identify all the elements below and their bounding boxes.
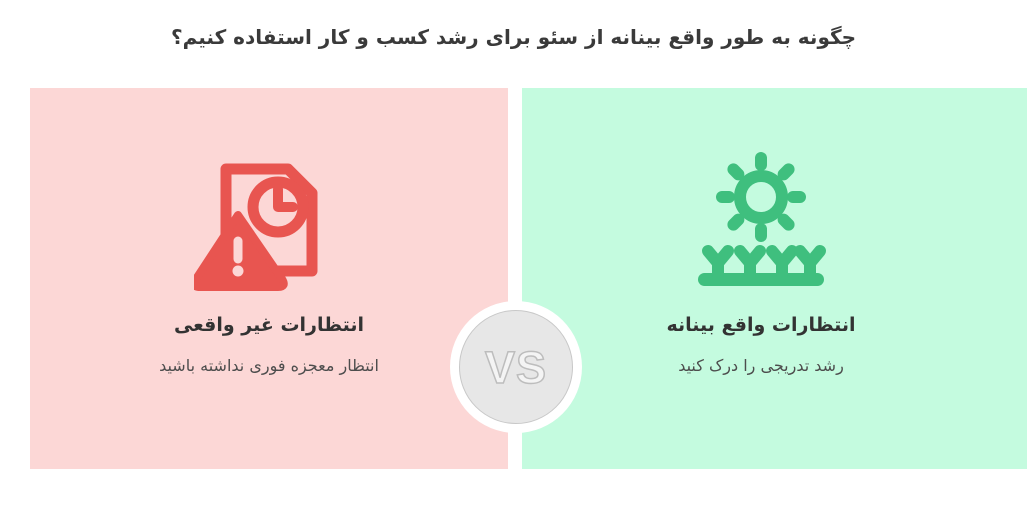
sun-sprouts-growth-icon-svg [686, 145, 836, 295]
document-clock-warning-icon [194, 140, 344, 300]
vs-badge: VS [450, 301, 582, 433]
vs-badge-label: VS [485, 345, 547, 390]
panel-unrealistic-heading: انتظارات غیر واقعی [174, 312, 364, 338]
panel-realistic-expectations: انتظارات واقع بینانه رشد تدریجی را درک ک… [522, 88, 1027, 469]
document-clock-warning-icon-svg [194, 145, 344, 295]
panel-realistic-content: انتظارات واقع بینانه رشد تدریجی را درک ک… [522, 88, 1000, 469]
comparison-board: انتظارات غیر واقعی انتظار معجزه فوری ندا… [0, 88, 1027, 469]
page-title: چگونه به طور واقع بینانه از سئو برای رشد… [0, 22, 1027, 52]
sun-sprouts-growth-icon [686, 140, 836, 300]
panel-unrealistic-content: انتظارات غیر واقعی انتظار معجزه فوری ندا… [30, 88, 508, 469]
panel-realistic-heading: انتظارات واقع بینانه [667, 312, 856, 338]
vs-badge-circle: VS [459, 310, 573, 424]
panel-unrealistic-expectations: انتظارات غیر واقعی انتظار معجزه فوری ندا… [30, 88, 508, 469]
panel-realistic-subtitle: رشد تدریجی را درک کنید [678, 354, 844, 378]
panel-unrealistic-subtitle: انتظار معجزه فوری نداشته باشید [159, 354, 379, 378]
